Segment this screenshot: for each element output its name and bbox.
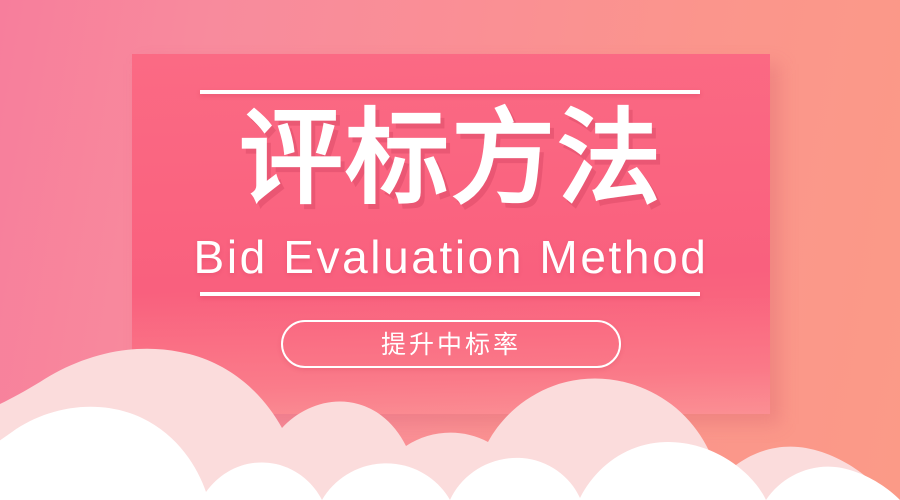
cloud-decoration [0,260,900,500]
page-title-chinese: 评标方法 [132,106,770,210]
poster-canvas: 评标方法 Bid Evaluation Method 提升中标率 [0,0,900,500]
top-divider-line [200,90,700,94]
